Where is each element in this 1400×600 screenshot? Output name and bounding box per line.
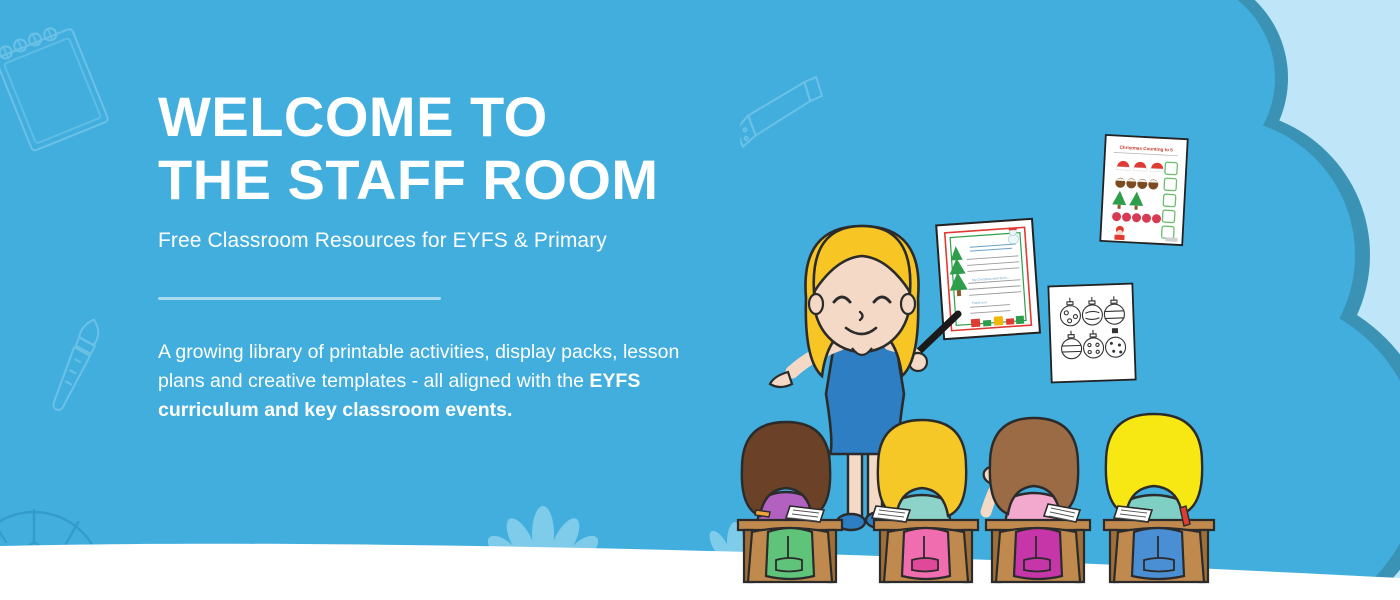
divider (158, 297, 441, 300)
baubles-colouring-worksheet (1048, 284, 1135, 383)
christmas-counting-worksheet: Christmas Counting to 5 (1100, 135, 1187, 245)
pupil-1 (738, 422, 842, 582)
page-subtitle: Free Classroom Resources for EYFS & Prim… (158, 229, 758, 253)
hero-copy-block: WELCOME TO THE STAFF ROOM Free Classroom… (158, 86, 758, 445)
hero-banner: My Christmas wish list is... Thank you, … (0, 0, 1400, 600)
pupil-2 (872, 420, 978, 582)
hero-description: A growing library of printable activitie… (158, 338, 723, 425)
pupil-4 (1104, 414, 1214, 582)
page-title: WELCOME TO THE STAFF ROOM (158, 86, 758, 211)
pupil-3 (984, 418, 1090, 582)
